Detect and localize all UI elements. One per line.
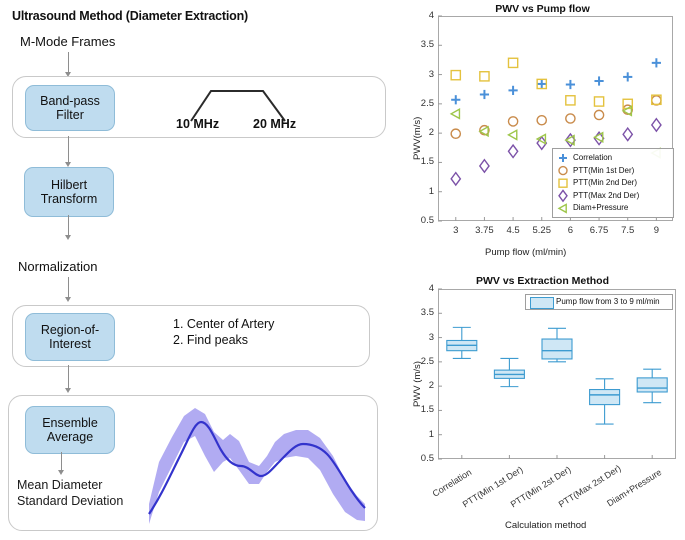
roi-step-1: 1. Center of Artery bbox=[173, 317, 274, 333]
box-3 bbox=[542, 328, 572, 362]
stage-ensemble-average: Ensemble Average Mean Diameter Standard … bbox=[8, 395, 378, 531]
filter-high-label: 20 MHz bbox=[253, 117, 296, 131]
box-1 bbox=[447, 327, 477, 358]
pwv-vs-pump-flow-chart: PWV vs Pump flow 0.511.522.533.5433.754.… bbox=[400, 0, 685, 268]
box-y-tick-label: 3.5 bbox=[405, 307, 434, 318]
box-y-tick-label: 3 bbox=[405, 332, 434, 343]
box-y-axis-label: PWV (m/s) bbox=[412, 361, 423, 407]
chip-hilbert-transform: Hilbert Transform bbox=[24, 167, 114, 217]
connector-hilbert-to-normalization bbox=[68, 215, 69, 237]
box-legend-label: Pump flow from 3 to 9 ml/min bbox=[556, 297, 660, 306]
scatter-legend-item-5: Diam+Pressure bbox=[573, 203, 628, 212]
stage-band-pass-filter: Band-pass Filter 10 MHz 20 MHz bbox=[12, 76, 386, 138]
roi-step-2: 2. Find peaks bbox=[173, 333, 274, 349]
boxplot-layer bbox=[400, 272, 685, 540]
ultrasound-method-flowchart: Ultrasound Method (Diameter Extraction) … bbox=[0, 0, 400, 540]
chip-region-of-interest: Region-of- Interest bbox=[25, 313, 115, 361]
connector-input-to-bandpass bbox=[68, 52, 69, 74]
arrowhead-roi-to-ensemble bbox=[65, 388, 71, 393]
connector-bandpass-to-hilbert bbox=[68, 136, 69, 164]
box-y-tick-label: 1 bbox=[405, 429, 434, 440]
scatter-legend-item-4: PTT(Max 2nd Der) bbox=[573, 191, 639, 200]
chip-line1: Region-of- bbox=[41, 323, 99, 337]
chip-line2: Transform bbox=[41, 192, 98, 206]
pwv-vs-extraction-method-chart: PWV vs Extraction Method 0.511.522.533.5… bbox=[400, 272, 685, 540]
box-2 bbox=[494, 358, 524, 386]
connector-normalization-to-roi bbox=[68, 277, 69, 299]
standard-deviation-band bbox=[149, 408, 365, 524]
box-5 bbox=[637, 369, 667, 403]
box-4 bbox=[590, 379, 620, 424]
connector-roi-to-ensemble bbox=[68, 365, 69, 390]
chip-line2: Interest bbox=[49, 337, 91, 351]
box-x-axis-label: Calculation method bbox=[505, 520, 586, 531]
arrowhead-normalization-to-roi bbox=[65, 297, 71, 302]
scatter-legend-markers bbox=[400, 0, 685, 268]
diameter-waveform-plot bbox=[9, 396, 377, 530]
box-y-tick-label: 4 bbox=[405, 283, 434, 294]
arrowhead-hilbert-to-normalization bbox=[65, 235, 71, 240]
filter-low-label: 10 MHz bbox=[176, 117, 219, 131]
scatter-legend-item-3: PTT(Min 2nd Der) bbox=[573, 178, 637, 187]
scatter-legend-item-1: Correlation bbox=[573, 153, 612, 162]
normalization-label: Normalization bbox=[18, 259, 97, 274]
input-label: M-Mode Frames bbox=[20, 34, 115, 49]
box-y-tick-label: 0.5 bbox=[405, 453, 434, 464]
stage-region-of-interest: Region-of- Interest 1. Center of Artery … bbox=[12, 305, 370, 367]
scatter-legend-item-2: PTT(Min 1st Der) bbox=[573, 166, 634, 175]
flowchart-title: Ultrasound Method (Diameter Extraction) bbox=[12, 9, 248, 23]
box-legend-swatch bbox=[530, 297, 554, 309]
chip-line1: Hilbert bbox=[51, 178, 87, 192]
